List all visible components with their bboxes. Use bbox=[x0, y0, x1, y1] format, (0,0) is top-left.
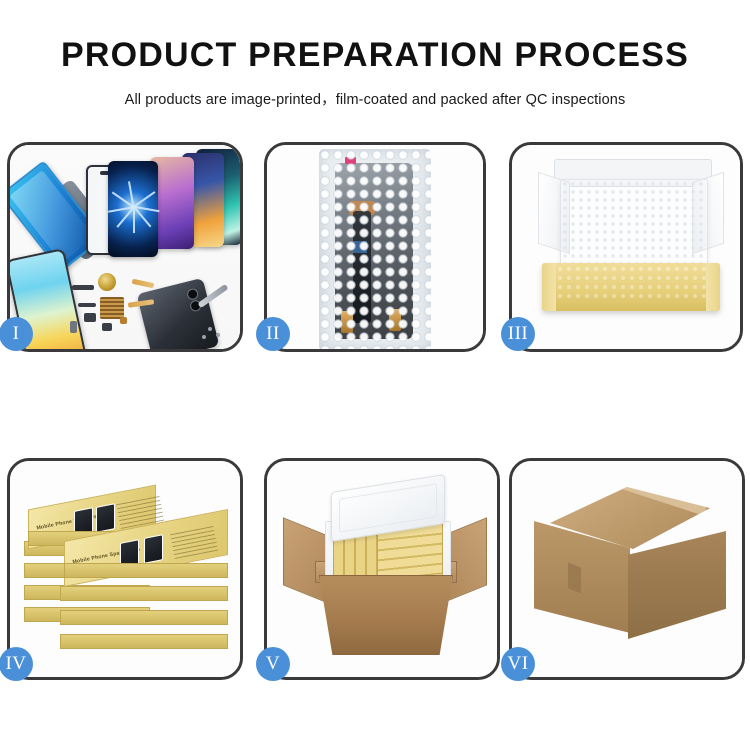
tape-strip bbox=[568, 646, 581, 677]
tray-edge bbox=[542, 263, 556, 311]
small-part-icon bbox=[84, 313, 96, 322]
open-carton bbox=[285, 483, 485, 661]
stacked-boxes: Mobile Phone Spare Parts Mobile Phone Sp… bbox=[24, 481, 230, 659]
carton-body bbox=[319, 575, 453, 655]
tape-strip bbox=[568, 562, 581, 593]
process-step-2: II bbox=[264, 142, 486, 352]
yellow-box-tray bbox=[542, 263, 720, 311]
small-part-icon bbox=[102, 323, 112, 331]
step-1-image bbox=[10, 145, 240, 349]
ic-chip-icon bbox=[100, 297, 124, 319]
process-step-1: I bbox=[7, 142, 243, 352]
phone-parts-illustration bbox=[10, 145, 240, 349]
step-badge-4: IV bbox=[0, 647, 33, 681]
small-part-icon bbox=[120, 317, 127, 324]
process-step-4: Mobile Phone Spare Parts Mobile Phone Sp… bbox=[7, 458, 243, 680]
small-part-icon bbox=[78, 303, 96, 307]
step-4-image: Mobile Phone Spare Parts Mobile Phone Sp… bbox=[10, 461, 240, 677]
process-step-grid: I II bbox=[0, 142, 750, 687]
flex-cable-icon bbox=[132, 279, 155, 288]
bubble-texture bbox=[319, 149, 431, 349]
step-3-image bbox=[512, 145, 740, 349]
foam-insert bbox=[560, 179, 708, 275]
step-2-image bbox=[267, 145, 483, 349]
packing-tape bbox=[593, 471, 706, 515]
top-box-right: Mobile Phone Spare Parts bbox=[64, 525, 228, 571]
bubble-wrap-bag bbox=[319, 149, 431, 349]
open-mailer-box bbox=[532, 159, 728, 331]
sealed-carton bbox=[534, 487, 726, 647]
step-5-image bbox=[267, 461, 497, 677]
page-title: PRODUCT PREPARATION PROCESS bbox=[0, 38, 750, 72]
process-step-5: V bbox=[264, 458, 500, 680]
small-part-icon bbox=[70, 321, 77, 333]
step-badge-6: VI bbox=[501, 647, 535, 681]
tray-edge bbox=[706, 263, 720, 311]
header: PRODUCT PREPARATION PROCESS All products… bbox=[0, 0, 750, 109]
speaker-part-icon bbox=[98, 273, 116, 291]
step-badge-5: V bbox=[256, 647, 290, 681]
step-6-image bbox=[512, 461, 742, 677]
process-step-3: III bbox=[509, 142, 743, 352]
phone-housing-icon bbox=[137, 278, 220, 349]
box-slab bbox=[60, 601, 228, 625]
page-subtitle: All products are image-printed，film-coat… bbox=[0, 88, 750, 109]
process-step-6: VI bbox=[509, 458, 745, 680]
earpiece-part-icon bbox=[72, 285, 94, 290]
step-badge-1: I bbox=[0, 317, 33, 351]
bubble-wrapped-product bbox=[556, 265, 706, 299]
carton-right-face bbox=[628, 531, 726, 639]
product-preparation-infographic: PRODUCT PREPARATION PROCESS All products… bbox=[0, 0, 750, 750]
box-slab bbox=[60, 625, 228, 649]
blue-lcd-icon bbox=[108, 161, 158, 257]
step-badge-3: III bbox=[501, 317, 535, 351]
step-badge-2: II bbox=[256, 317, 290, 351]
